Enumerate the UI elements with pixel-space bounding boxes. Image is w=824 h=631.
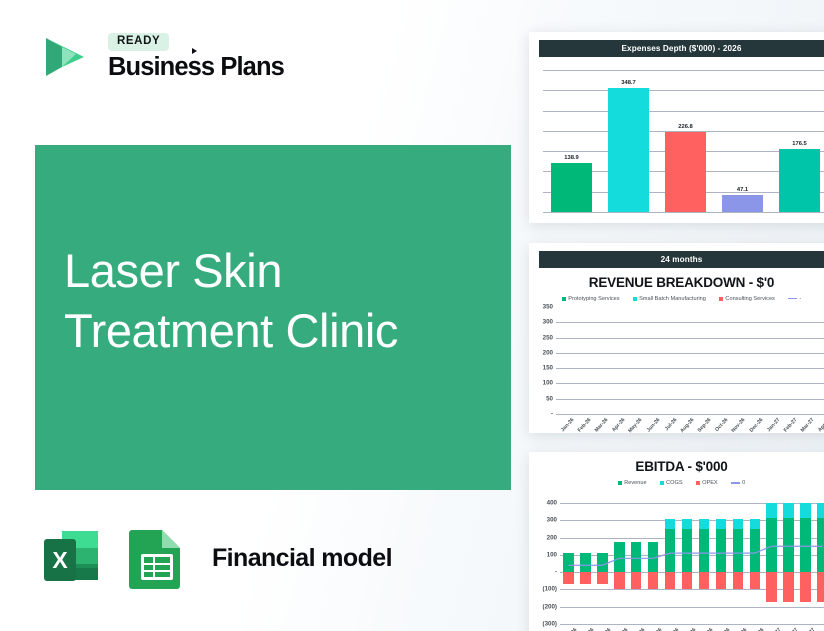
expenses-bars: 138.9348.7226.847.1176.5: [543, 70, 824, 212]
legend-item: OPEX: [696, 480, 718, 486]
x-axis-label: Jul-26: [664, 417, 678, 432]
y-axis-tick: 200: [543, 349, 553, 356]
revenue-period-strip: 24 months: [539, 251, 824, 268]
y-axis-tick: 100: [547, 551, 557, 558]
brand-text: READY Business Plans: [108, 33, 284, 81]
expenses-bar: 226.8: [665, 132, 706, 213]
ebitda-chart-title: EBITDA - $'000: [529, 452, 824, 474]
legend-item: -: [788, 296, 801, 302]
y-axis-tick: 250: [543, 334, 553, 341]
x-axis-label: Feb-26: [580, 627, 596, 631]
expenses-bar: 348.7: [608, 88, 649, 212]
x-axis-label: Sep-26: [697, 417, 713, 433]
x-axis-label: Feb-27: [783, 627, 799, 631]
legend-label: Prototyping Services: [568, 296, 619, 302]
bar-slot: [762, 307, 779, 414]
x-axis-label: Apr-27: [817, 627, 824, 631]
chart-card-expenses[interactable]: Expenses Depth ($'000) - 2026 138.9348.7…: [529, 32, 824, 223]
x-axis-label: Aug-26: [681, 627, 697, 631]
legend-swatch: [696, 481, 700, 485]
chart-card-revenue[interactable]: 24 months REVENUE BREAKDOWN - $'0 Protot…: [529, 243, 824, 433]
brand-name: Business Plans: [108, 54, 284, 81]
bar-slot: [642, 307, 659, 414]
bar-value-label: 138.9: [564, 155, 579, 161]
legend-label: 0: [742, 480, 745, 486]
x-axis-label: Nov-26: [732, 627, 748, 631]
bar-slot: 176.5: [771, 70, 824, 212]
page-title: Laser Skin Treatment Clinic: [64, 241, 398, 361]
ebitda-x-axis: Jan-26Feb-26Mar-26Apr-26May-26Jun-26Jul-…: [560, 624, 824, 631]
bar-slot: 138.9: [543, 70, 600, 212]
x-axis-label: Jan-26: [560, 417, 575, 433]
revenue-chart-title: REVENUE BREAKDOWN - $'0: [529, 268, 824, 290]
expenses-chart-title: Expenses Depth ($'000) - 2026: [539, 40, 824, 57]
legend-label: OPEX: [702, 480, 718, 486]
legend-label: COGS: [666, 480, 682, 486]
bar-slot: [608, 307, 625, 414]
legend-item: 0: [731, 480, 746, 486]
bar-value-label: 176.5: [792, 141, 807, 147]
google-sheets-icon: [124, 523, 190, 593]
bar-slot: [728, 307, 745, 414]
y-axis-tick: 350: [543, 304, 553, 311]
ebitda-plot-area: 400300200100-(100)(200)(300) Jan-26Feb-2…: [560, 503, 824, 624]
x-axis-label: Apr-26: [614, 627, 629, 631]
footer-row: X Financial model: [36, 523, 392, 593]
svg-text:X: X: [52, 547, 68, 573]
x-axis-label: Dec-26: [749, 627, 765, 631]
ready-badge: READY: [108, 33, 169, 51]
x-axis-label: Oct-26: [716, 627, 731, 631]
bar-slot: [625, 307, 642, 414]
legend-swatch: [618, 481, 622, 485]
expenses-bar: 176.5: [779, 149, 820, 212]
x-axis-label: Mar-26: [594, 417, 610, 433]
y-axis-tick: (200): [543, 603, 557, 610]
bar-slot: [659, 307, 676, 414]
y-axis-tick: 50: [546, 395, 553, 402]
legend-item: Prototyping Services: [562, 296, 620, 302]
y-axis-tick: -: [555, 569, 557, 576]
bar-slot: [590, 307, 607, 414]
x-axis-label: Mar-26: [597, 627, 613, 631]
bar-slot: [676, 307, 693, 414]
presentation-cover: READY Business Plans Laser Skin Treatmen…: [0, 0, 824, 631]
ebitda-trend-line: [560, 503, 824, 624]
bar-slot: [745, 307, 762, 414]
y-axis-tick: -: [551, 411, 553, 418]
revenue-bars: [556, 307, 824, 414]
legend-item: Consulting Services: [719, 296, 775, 302]
hero-green-block: Laser Skin Treatment Clinic: [35, 145, 511, 490]
x-axis-label: Jul-26: [666, 627, 680, 631]
bar-slot: 226.8: [657, 70, 714, 212]
y-axis-tick: 400: [547, 500, 557, 507]
bar-value-label: 226.8: [678, 124, 693, 130]
legend-label: Small Batch Manufacturing: [639, 296, 706, 302]
x-axis-label: May-26: [630, 627, 646, 631]
legend-swatch: [660, 481, 664, 485]
legend-item: Small Batch Manufacturing: [633, 296, 706, 302]
legend-swatch: [731, 482, 740, 484]
legend-item: Revenue: [618, 480, 647, 486]
expenses-bar: 138.9: [551, 163, 592, 212]
x-axis-label: Oct-26: [714, 417, 729, 433]
play-triangle-logo-icon: [32, 26, 94, 88]
microsoft-excel-icon: X: [36, 523, 106, 593]
bar-slot: [711, 307, 728, 414]
bar-value-label: 47.1: [737, 187, 748, 193]
x-axis-label: Mar-27: [800, 417, 816, 433]
y-axis-tick: 300: [547, 517, 557, 524]
legend-label: Consulting Services: [725, 296, 774, 302]
x-axis-label: Jun-26: [645, 417, 661, 433]
x-axis-label: May-26: [628, 417, 644, 433]
bar-slot: 47.1: [714, 70, 771, 212]
bar-slot: [814, 307, 824, 414]
expenses-bar: 47.1: [722, 195, 763, 212]
legend-swatch: [788, 298, 797, 300]
x-axis-label: Jan-27: [766, 417, 781, 433]
bar-slot: [797, 307, 814, 414]
x-axis-label: Feb-27: [783, 417, 799, 433]
x-axis-label: Feb-26: [577, 417, 593, 433]
bar-slot: [779, 307, 796, 414]
bar-slot: [556, 307, 573, 414]
y-axis-tick: (300): [543, 621, 557, 628]
x-axis-label: Sep-26: [699, 627, 715, 631]
brand-tick-icon: [192, 48, 197, 54]
y-axis-tick: 200: [547, 534, 557, 541]
x-axis-label: Aug-26: [679, 417, 695, 433]
revenue-x-axis: Jan-26Feb-26Mar-26Apr-26May-26Jun-26Jul-…: [556, 414, 824, 433]
legend-swatch: [562, 297, 566, 301]
x-axis-label: Mar-27: [800, 627, 816, 631]
x-axis-label: Jan-26: [563, 627, 578, 631]
bar-slot: 348.7: [600, 70, 657, 212]
footer-label: Financial model: [212, 544, 392, 573]
bar-slot: [694, 307, 711, 414]
legend-swatch: [633, 297, 637, 301]
bar-value-label: 348.7: [621, 80, 636, 86]
y-axis-tick: 100: [543, 380, 553, 387]
x-axis-label: Jun-26: [648, 627, 664, 631]
x-axis-label: Apr-26: [611, 417, 626, 433]
legend-swatch: [719, 297, 723, 301]
brand-lockup: READY Business Plans: [32, 26, 284, 88]
y-axis-tick: (100): [543, 586, 557, 593]
legend-item: COGS: [660, 480, 683, 486]
x-axis-label: Nov-26: [731, 417, 747, 433]
legend-label: Revenue: [624, 480, 646, 486]
chart-card-ebitda[interactable]: EBITDA - $'000 RevenueCOGSOPEX0 40030020…: [529, 452, 824, 631]
y-axis-tick: 150: [543, 365, 553, 372]
brand-name-label: Business Plans: [108, 53, 284, 81]
expenses-plot-area: 138.9348.7226.847.1176.5: [543, 70, 824, 212]
legend-label: -: [799, 296, 801, 302]
x-axis-label: Apr-27: [817, 417, 824, 433]
revenue-plot-area: 35030025020015010050- Jan-26Feb-26Mar-26…: [556, 307, 824, 414]
x-axis-label: Jan-27: [767, 627, 782, 631]
y-axis-tick: 300: [543, 319, 553, 326]
ebitda-legend: RevenueCOGSOPEX0: [529, 474, 824, 488]
bar-slot: [573, 307, 590, 414]
revenue-legend: Prototyping ServicesSmall Batch Manufact…: [529, 290, 824, 304]
x-axis-label: Dec-26: [748, 417, 764, 433]
